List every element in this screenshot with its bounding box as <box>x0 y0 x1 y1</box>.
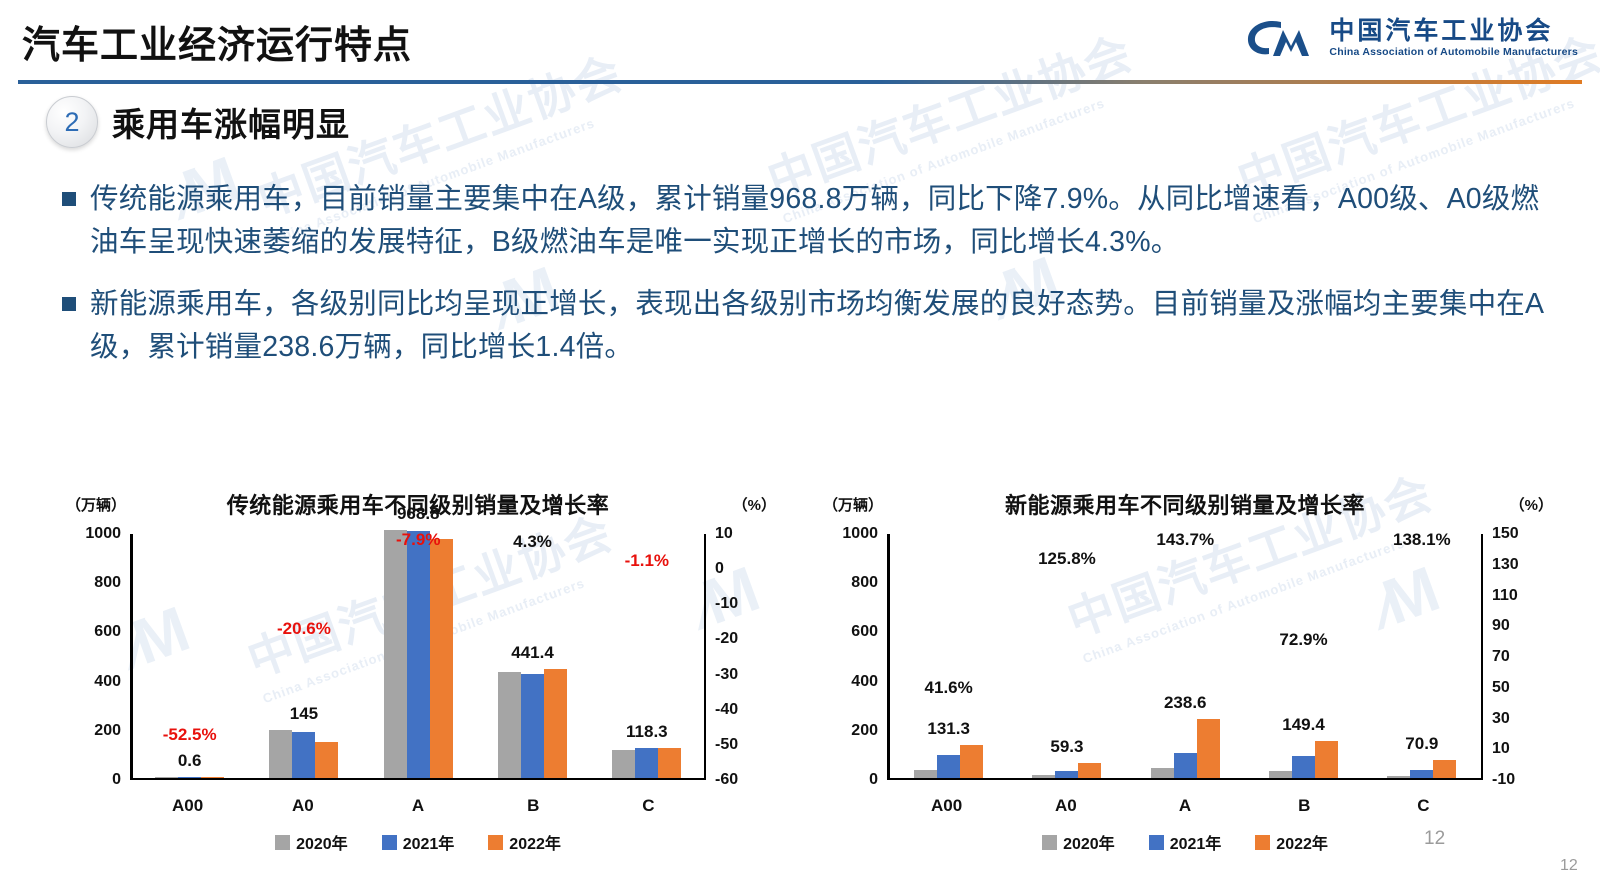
bar-group: 145-20.6% <box>247 534 361 778</box>
bullet-list: 传统能源乘用车，目前销量主要集中在A级，累计销量968.8万辆，同比下降7.9%… <box>62 178 1562 387</box>
legend-swatch-icon <box>1149 835 1164 850</box>
bullet-text: 新能源乘用车，各级别同比均呈现正增长，表现出各级别市场均衡发展的良好态势。目前销… <box>90 283 1562 370</box>
bar-value-label: 149.4 <box>1282 715 1325 735</box>
bar-2021年 <box>407 531 430 777</box>
bar-2021年 <box>635 748 658 778</box>
bar-2021年 <box>1410 770 1433 777</box>
y-axis-tick: 400 <box>851 673 878 691</box>
legend-item[interactable]: 2021年 <box>382 830 455 854</box>
y2-axis-tick: 90 <box>1492 617 1510 635</box>
y2-axis-tick: 30 <box>1492 710 1510 728</box>
bullet-square-icon <box>62 192 76 206</box>
page-title: 汽车工业经济运行特点 <box>22 14 412 69</box>
bar-value-label: 441.4 <box>511 643 554 663</box>
bar-group: 149.472.9% <box>1244 534 1362 778</box>
y2-axis-tick: 50 <box>1492 679 1510 697</box>
bar-2022年 <box>315 742 338 778</box>
growth-rate-label: -1.1% <box>625 551 669 571</box>
y-axis-tick: 1000 <box>842 525 878 543</box>
bar-2020年 <box>384 530 407 778</box>
y2-axis-tick: 10 <box>715 525 733 543</box>
y2-axis-tick: 10 <box>1492 740 1510 758</box>
bar-2020年 <box>269 730 292 777</box>
bar-2020年 <box>612 750 635 778</box>
section-title: 乘用车涨幅明显 <box>112 98 350 146</box>
bar-2020年 <box>914 770 937 777</box>
slide-header: 汽车工业经济运行特点 中国汽车工业协会 China Association of… <box>0 0 1600 82</box>
bar-2020年 <box>1269 771 1292 778</box>
bar-2021年 <box>1292 756 1315 777</box>
bar-2022年 <box>1078 763 1101 778</box>
bar-2021年 <box>1055 771 1078 777</box>
legend-label: 2021年 <box>1170 830 1222 854</box>
y-axis-tick: 800 <box>851 574 878 592</box>
growth-rate-label: -7.9% <box>396 530 440 550</box>
x-axis-label: A0 <box>1006 796 1125 816</box>
chart-new-energy: （万辆） （%） 新能源乘用车不同级别销量及增长率 10008006004002… <box>815 478 1555 878</box>
legend-label: 2022年 <box>1276 830 1328 854</box>
bar-group: 131.341.6% <box>890 534 1008 778</box>
plot-area: 10008006004002000 100-10-20-30-40-50-60 … <box>130 534 706 780</box>
caam-logo-icon <box>1245 16 1319 60</box>
y2-axis-tick: -50 <box>715 736 738 754</box>
page-number: 12 <box>1424 828 1445 850</box>
bar-2021年 <box>292 732 315 777</box>
bar-group: 968.8-7.9% <box>361 534 475 778</box>
bar-2020年 <box>1032 775 1055 777</box>
plot-area: 10008006004002000 1501301109070503010-10… <box>887 534 1483 780</box>
bar-2020年 <box>1387 776 1410 778</box>
logo-english-name: China Association of Automobile Manufact… <box>1329 46 1578 58</box>
bar-group: 0.6-52.5% <box>133 534 247 778</box>
y-axis-tick: 600 <box>94 623 121 641</box>
legend-swatch-icon <box>1042 835 1057 850</box>
bar-2022年 <box>430 539 453 777</box>
y2-axis-tick: 0 <box>715 560 724 578</box>
y2-axis-tick: 150 <box>1492 525 1519 543</box>
bar-groups: 131.341.6%59.3125.8%238.6143.7%149.472.9… <box>890 534 1482 778</box>
x-axis-label: A00 <box>130 796 245 816</box>
chart-legend: 2020年2021年2022年 <box>58 830 778 854</box>
section-heading: 2 乘用车涨幅明显 <box>46 96 350 148</box>
growth-rate-label: 4.3% <box>513 532 552 552</box>
bar-value-label: 968.8 <box>397 504 440 524</box>
y2-axis-tick: -20 <box>715 630 738 648</box>
y-axis-tick: 1000 <box>85 525 121 543</box>
bar-group: 59.3125.8% <box>1008 534 1126 778</box>
x-axis-label: B <box>1245 796 1364 816</box>
bar-2022年 <box>658 748 681 777</box>
y-axis-tick: 800 <box>94 574 121 592</box>
growth-rate-label: 143.7% <box>1156 530 1214 550</box>
y-axis-tick: 200 <box>94 722 121 740</box>
legend-item[interactable]: 2021年 <box>1149 830 1222 854</box>
y-axis-tick: 200 <box>851 722 878 740</box>
legend-swatch-icon <box>382 835 397 850</box>
bar-2021年 <box>521 674 544 777</box>
bar-group: 118.3-1.1% <box>590 534 704 778</box>
x-axis-label: C <box>1364 796 1483 816</box>
list-item: 新能源乘用车，各级别同比均呈现正增长，表现出各级别市场均衡发展的良好态势。目前销… <box>62 283 1562 370</box>
growth-rate-label: 138.1% <box>1393 530 1451 550</box>
legend-item[interactable]: 2022年 <box>488 830 561 854</box>
y-axis-tick: 600 <box>851 623 878 641</box>
bar-group: 70.9138.1% <box>1363 534 1481 778</box>
y-axis-tick: 0 <box>869 771 878 789</box>
bar-value-label: 131.3 <box>927 719 970 739</box>
logo-chinese-name: 中国汽车工业协会 <box>1329 18 1578 44</box>
legend-swatch-icon <box>1255 835 1270 850</box>
header-divider <box>18 80 1582 84</box>
bar-value-label: 118.3 <box>626 722 668 742</box>
y2-axis-tick: -40 <box>715 701 738 719</box>
x-axis-label: A <box>1125 796 1244 816</box>
bar-group: 238.6143.7% <box>1126 534 1244 778</box>
x-axis-label: A00 <box>887 796 1006 816</box>
growth-rate-label: -20.6% <box>277 619 331 639</box>
bar-2022年 <box>1315 741 1338 778</box>
legend-swatch-icon <box>488 835 503 850</box>
y2-axis-tick: -30 <box>715 666 738 684</box>
legend-label: 2022年 <box>509 830 561 854</box>
chart-title: 新能源乘用车不同级别销量及增长率 <box>815 488 1555 520</box>
chart-traditional-fuel: （万辆） （%） 传统能源乘用车不同级别销量及增长率 1000800600400… <box>58 478 778 878</box>
list-item: 传统能源乘用车，目前销量主要集中在A级，累计销量968.8万辆，同比下降7.9%… <box>62 178 1562 265</box>
bar-2021年 <box>178 777 201 778</box>
bullet-text: 传统能源乘用车，目前销量主要集中在A级，累计销量968.8万辆，同比下降7.9%… <box>90 178 1562 265</box>
x-axis-line <box>887 778 1483 781</box>
bar-value-label: 0.6 <box>178 751 202 771</box>
legend-item[interactable]: 2022年 <box>1255 830 1328 854</box>
x-axis-labels: A00A0ABC <box>887 796 1483 816</box>
bar-2020年 <box>498 672 521 777</box>
y-axis-tick: 400 <box>94 673 121 691</box>
legend-label: 2020年 <box>1063 830 1115 854</box>
bar-2021年 <box>1174 753 1197 777</box>
growth-rate-label: 41.6% <box>925 678 973 698</box>
bar-2021年 <box>937 755 960 778</box>
x-axis-label: A <box>360 796 475 816</box>
y2-axis-tick: 130 <box>1492 556 1519 574</box>
bar-2020年 <box>1151 768 1174 777</box>
bar-2022年 <box>201 777 224 778</box>
bar-2020年 <box>155 777 178 778</box>
section-number-badge: 2 <box>46 96 98 148</box>
bar-group: 441.44.3% <box>475 534 589 778</box>
legend-label: 2021年 <box>403 830 455 854</box>
x-axis-label: B <box>476 796 591 816</box>
growth-rate-label: -52.5% <box>163 725 217 745</box>
bar-value-label: 238.6 <box>1164 693 1207 713</box>
y2-axis-tick: 70 <box>1492 648 1510 666</box>
bar-value-label: 70.9 <box>1405 734 1438 754</box>
x-axis-labels: A00A0ABC <box>130 796 706 816</box>
legend-item[interactable]: 2020年 <box>1042 830 1115 854</box>
growth-rate-label: 125.8% <box>1038 549 1096 569</box>
bullet-square-icon <box>62 297 76 311</box>
legend-swatch-icon <box>275 835 290 850</box>
x-axis-label: A0 <box>245 796 360 816</box>
bar-groups: 0.6-52.5%145-20.6%968.8-7.9%441.44.3%118… <box>133 534 705 778</box>
bar-2022年 <box>544 669 567 778</box>
bar-value-label: 145 <box>290 704 318 724</box>
bar-2022年 <box>1433 760 1456 777</box>
y2-axis-tick: -60 <box>715 771 738 789</box>
caam-logo: 中国汽车工业协会 China Association of Automobile… <box>1245 16 1578 60</box>
bar-value-label: 59.3 <box>1050 737 1083 757</box>
y2-axis-tick: 110 <box>1492 587 1518 605</box>
y2-axis-tick: -10 <box>715 595 738 613</box>
y2-axis-tick: -10 <box>1492 771 1515 789</box>
bar-2022年 <box>1197 719 1220 778</box>
page-number-footer: 12 <box>1560 857 1578 875</box>
bar-2022年 <box>960 745 983 777</box>
legend-label: 2020年 <box>296 830 348 854</box>
x-axis-line <box>130 778 706 781</box>
growth-rate-label: 72.9% <box>1279 630 1327 650</box>
legend-item[interactable]: 2020年 <box>275 830 348 854</box>
y-axis-tick: 0 <box>112 771 121 789</box>
x-axis-label: C <box>591 796 706 816</box>
